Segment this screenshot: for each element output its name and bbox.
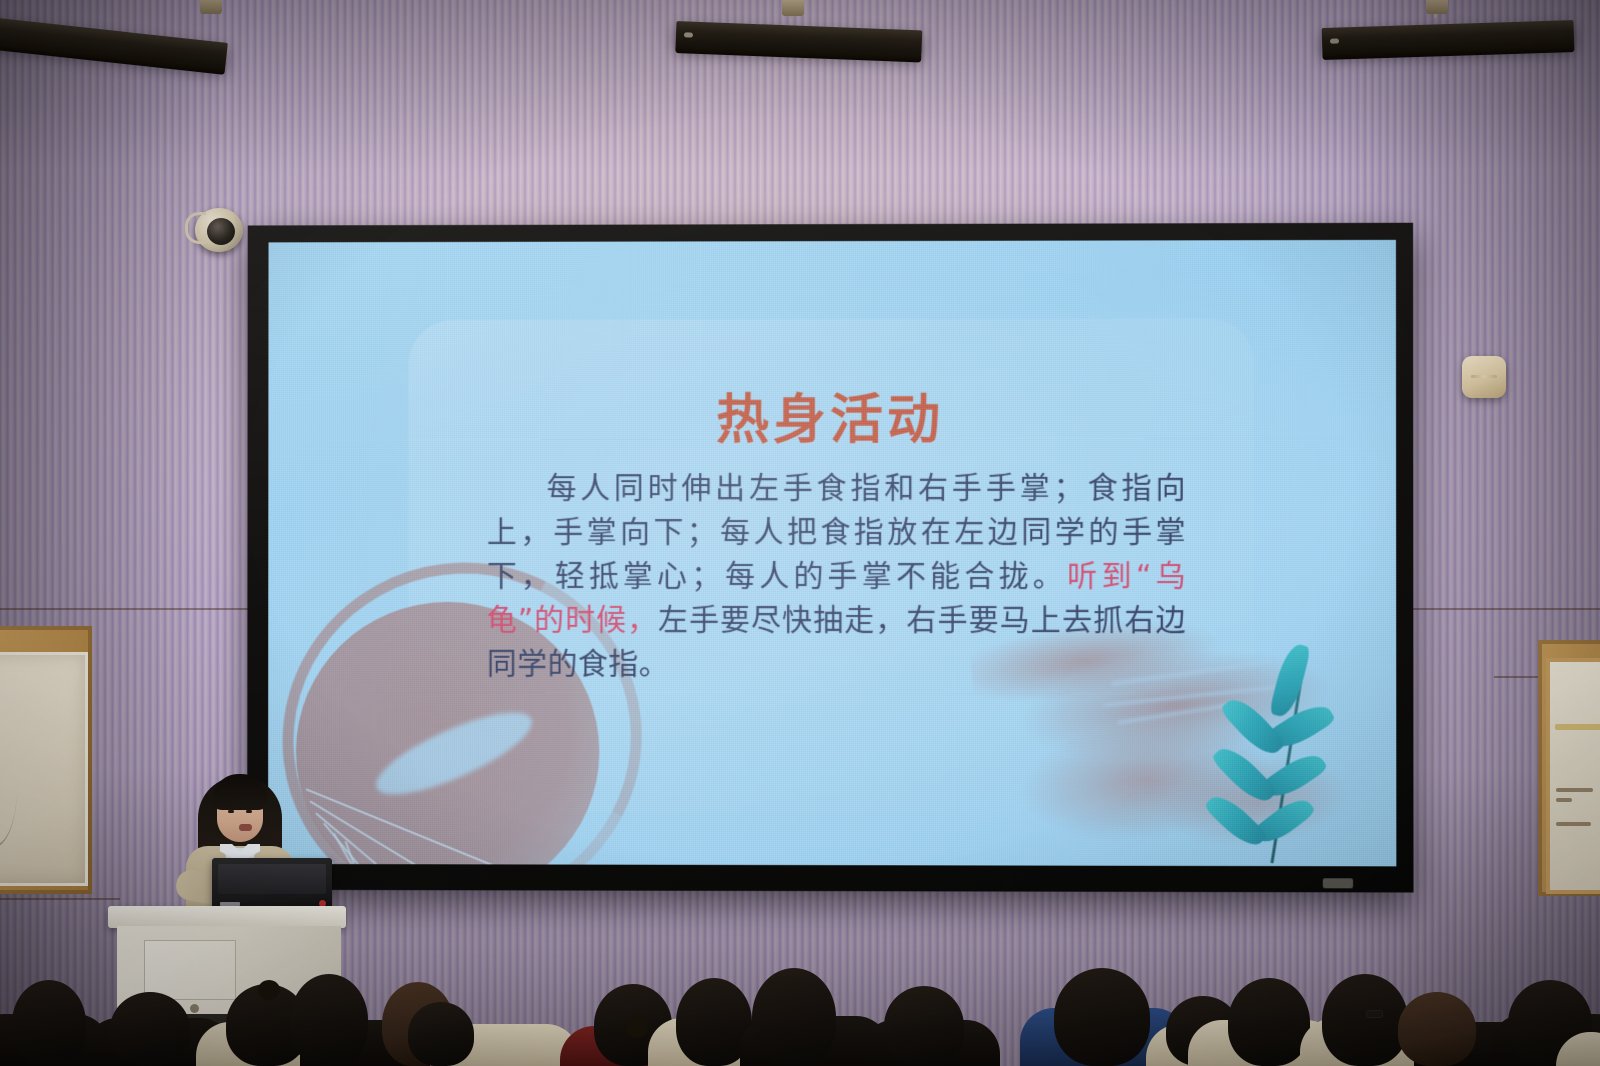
audience-head xyxy=(1322,974,1408,1066)
presenter-eye xyxy=(228,810,234,813)
poster-line xyxy=(1556,822,1591,826)
whiteboard xyxy=(0,652,88,886)
audience-head xyxy=(1398,992,1476,1066)
dome-security-camera xyxy=(195,208,243,252)
seated-audience xyxy=(0,936,1600,1066)
poster-band xyxy=(1555,724,1600,730)
light-mount-left xyxy=(200,0,222,14)
light-mount-center xyxy=(782,0,804,16)
audience-head xyxy=(290,974,368,1066)
leaf xyxy=(1269,641,1311,719)
audience-head xyxy=(408,1002,474,1066)
brush-smear-streaks xyxy=(269,240,1396,243)
poster-line xyxy=(1556,798,1572,802)
audience-head xyxy=(884,986,964,1066)
wall-access-point xyxy=(1462,356,1506,398)
podium-top xyxy=(108,906,346,928)
poster-line xyxy=(1556,788,1593,792)
screen-bezel-label xyxy=(1323,878,1353,888)
audience-head xyxy=(110,992,190,1066)
leaf-branch-decoration xyxy=(1193,647,1344,863)
camera-lens xyxy=(207,218,235,245)
presenter-mouth xyxy=(239,824,252,831)
presenter-eye xyxy=(246,810,252,813)
presenter-hair-front xyxy=(212,774,268,810)
audience-glasses xyxy=(1366,1010,1383,1018)
light-mount-right xyxy=(1426,0,1448,14)
audience-hair-bun xyxy=(258,980,280,1000)
slide-body-text: 每人同时伸出左手食指和右手手掌；食指向上，手掌向下；每人把食指放在左边同学的手掌… xyxy=(487,467,1186,688)
audience-head xyxy=(752,968,836,1066)
audience-head xyxy=(12,980,86,1066)
led-display-frame: 热身活动 每人同时伸出左手食指和右手手掌；食指向上，手掌向下；每人把食指放在左边… xyxy=(247,223,1413,893)
wall-poster xyxy=(1546,658,1600,894)
audience-head xyxy=(1228,978,1310,1066)
audience-hair-bun xyxy=(626,1016,648,1038)
lecture-hall-photo: 热身活动 每人同时伸出左手食指和右手手掌；食指向上，手掌向下；每人把食指放在左边… xyxy=(0,0,1600,1066)
whiteboard-scribble xyxy=(0,715,17,847)
slide-title: 热身活动 xyxy=(268,378,1396,455)
camera-mount-arm xyxy=(185,212,206,244)
wall-seam xyxy=(0,898,120,900)
audience-head xyxy=(1054,968,1150,1066)
brush-ray-group xyxy=(269,240,1396,243)
led-display-screen: 热身活动 每人同时伸出左手食指和右手手掌；食指向上，手掌向下；每人把食指放在左边… xyxy=(268,240,1396,866)
